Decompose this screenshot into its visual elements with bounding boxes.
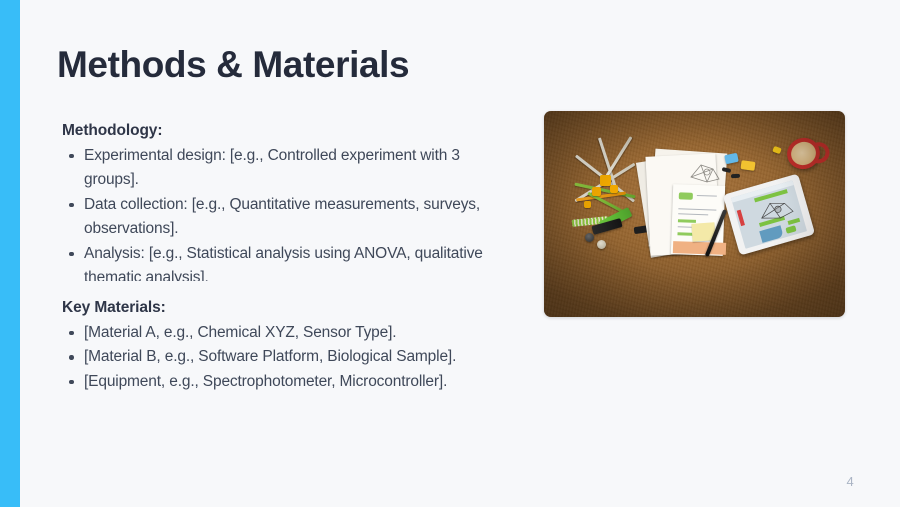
key-materials-heading: Key Materials:	[62, 298, 510, 319]
list-item: Experimental design: [e.g., Controlled e…	[62, 144, 510, 193]
key-materials-list: [Material A, e.g., Chemical XYZ, Sensor …	[62, 321, 510, 395]
methodology-section: Methodology: Experimental design: [e.g.,…	[62, 121, 510, 281]
list-item: [Material A, e.g., Chemical XYZ, Sensor …	[62, 321, 510, 346]
methodology-heading: Methodology:	[62, 121, 510, 142]
list-item: Analysis: [e.g., Statistical analysis us…	[62, 242, 510, 281]
key-materials-section: Key Materials: [Material A, e.g., Chemic…	[62, 298, 510, 394]
content-column: Methodology: Experimental design: [e.g.,…	[62, 121, 510, 394]
list-item: [Equipment, e.g., Spectrophotometer, Mic…	[62, 370, 510, 395]
list-item: Data collection: [e.g., Quantitative mea…	[62, 193, 510, 242]
slide: Methods & Materials Methodology: Experim…	[0, 0, 900, 507]
photo-vignette	[544, 111, 845, 317]
page-title: Methods & Materials	[57, 44, 409, 85]
list-item: [Material B, e.g., Software Platform, Bi…	[62, 345, 510, 370]
desk-photo	[544, 111, 845, 317]
methodology-list: Experimental design: [e.g., Controlled e…	[62, 144, 510, 281]
page-number: 4	[846, 474, 854, 489]
accent-bar	[0, 0, 20, 507]
